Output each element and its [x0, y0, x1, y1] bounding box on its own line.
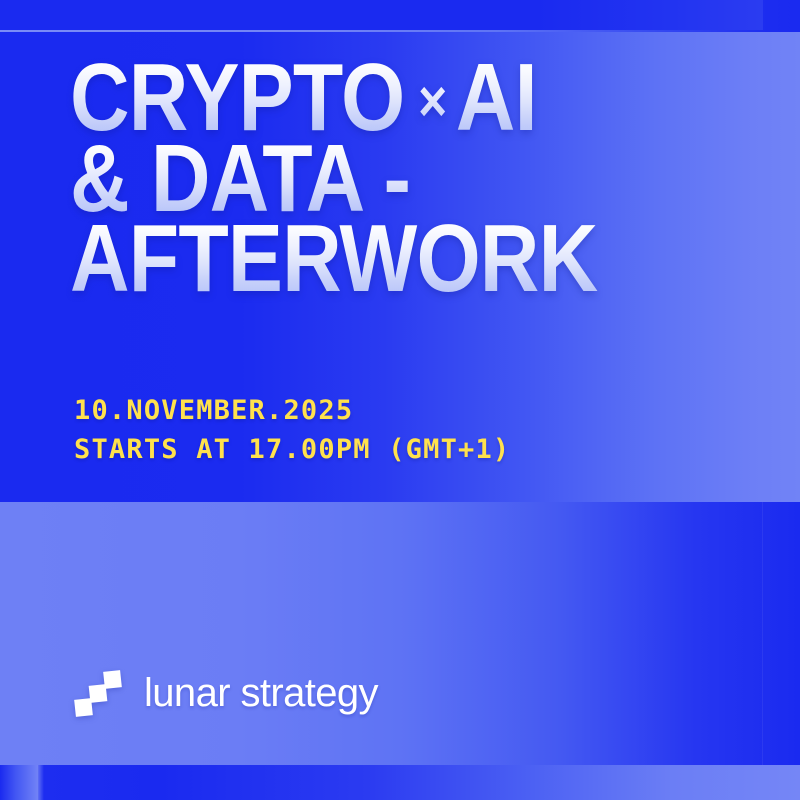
brand-logo: lunar strategy	[74, 668, 378, 718]
headline-line-3: AFTERWORK	[70, 219, 672, 300]
brand-name: lunar strategy	[144, 671, 378, 716]
background-bottom-left-sliver	[0, 765, 38, 800]
background-vertical-seam	[762, 502, 763, 765]
three-ascending-squares-icon	[74, 668, 128, 718]
headline-word-ai: AI	[456, 44, 537, 151]
multiply-icon: ×	[404, 69, 455, 134]
background-lower-panel	[0, 502, 800, 765]
event-time: STARTS AT 17.00PM (GMT+1)	[74, 431, 510, 470]
event-date: 10.NOVEMBER.2025	[74, 392, 510, 431]
background-bottom-band	[0, 765, 800, 800]
background-top-dark-block	[0, 0, 763, 30]
headline-block: CRYPTO×AI & DATA - AFTERWORK	[70, 58, 770, 300]
event-poster: CRYPTO×AI & DATA - AFTERWORK 10.NOVEMBER…	[0, 0, 800, 800]
event-details-block: 10.NOVEMBER.2025 STARTS AT 17.00PM (GMT+…	[74, 392, 510, 469]
